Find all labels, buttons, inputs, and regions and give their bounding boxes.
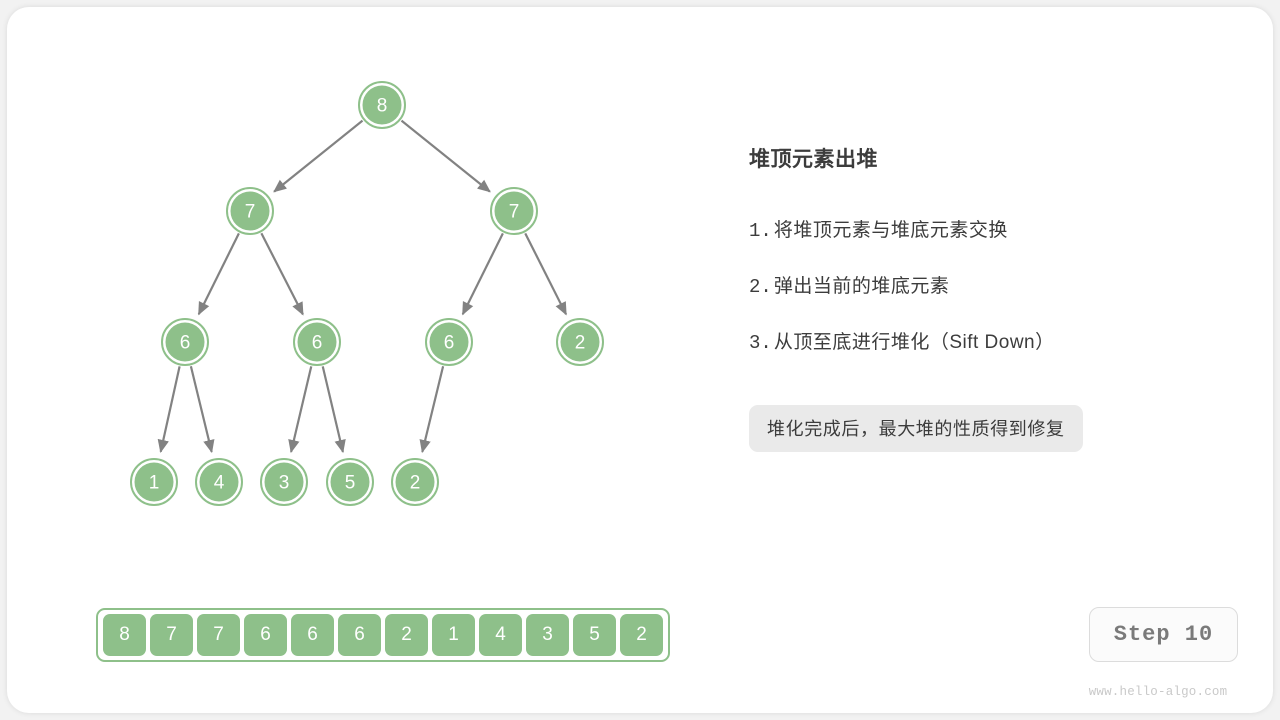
step-item: 2.弹出当前的堆底元素 [749, 271, 1219, 298]
node-value: 7 [509, 202, 520, 223]
node-value: 6 [444, 333, 455, 354]
tree-edge [161, 366, 180, 451]
tree-edge [401, 121, 489, 192]
explanation-panel: 堆顶元素出堆 1.将堆顶元素与堆底元素交换2.弹出当前的堆底元素3.从顶至底进行… [749, 143, 1219, 452]
steps-list: 1.将堆顶元素与堆底元素交换2.弹出当前的堆底元素3.从顶至底进行堆化（Sift… [749, 215, 1219, 354]
step-item: 3.从顶至底进行堆化（Sift Down） [749, 327, 1219, 354]
tree-edge [463, 233, 503, 314]
tree-edge [274, 121, 362, 192]
tree-nodes: 877666214352 [131, 82, 603, 505]
tree-edge [291, 366, 311, 451]
array-cell: 5 [573, 614, 616, 656]
tree-edge [199, 233, 239, 314]
step-label: 弹出当前的堆底元素 [774, 271, 950, 298]
tree-edges [161, 121, 566, 452]
array-cell: 7 [150, 614, 193, 656]
array-cell: 1 [432, 614, 475, 656]
node-value: 2 [575, 333, 586, 354]
tree-node: 6 [294, 319, 340, 365]
node-value: 1 [149, 473, 160, 494]
tree-node: 2 [392, 459, 438, 505]
node-value: 6 [312, 333, 323, 354]
node-value: 6 [180, 333, 191, 354]
step-label: 将堆顶元素与堆底元素交换 [774, 215, 1008, 242]
tree-node: 5 [327, 459, 373, 505]
tree-edge [191, 366, 212, 452]
content-card: 877666214352 堆顶元素出堆 1.将堆顶元素与堆底元素交换2.弹出当前… [7, 7, 1273, 713]
screenshot-canvas: 877666214352 堆顶元素出堆 1.将堆顶元素与堆底元素交换2.弹出当前… [0, 0, 1280, 720]
tree-node: 2 [557, 319, 603, 365]
array-cell: 4 [479, 614, 522, 656]
tree-edge [261, 233, 303, 314]
note-badge: 堆化完成后，最大堆的性质得到修复 [749, 405, 1083, 452]
step-number: 3. [749, 332, 772, 354]
tree-edge [525, 233, 566, 314]
tree-edge [323, 366, 343, 451]
array-cell: 6 [244, 614, 287, 656]
array-cell: 7 [197, 614, 240, 656]
heap-array: 877666214352 [96, 608, 670, 662]
node-value: 8 [377, 96, 388, 117]
array-cell: 8 [103, 614, 146, 656]
heap-tree-diagram: 877666214352 [7, 7, 727, 567]
tree-node: 8 [359, 82, 405, 128]
step-label: 从顶至底进行堆化（Sift Down） [774, 327, 1055, 354]
array-cell: 2 [620, 614, 663, 656]
step-number: 1. [749, 220, 772, 242]
watermark-text: www.hello-algo.com [1080, 685, 1236, 699]
array-cell: 6 [291, 614, 334, 656]
array-cell: 3 [526, 614, 569, 656]
step-badge: Step 10 [1089, 607, 1238, 662]
node-value: 3 [279, 473, 290, 494]
step-item: 1.将堆顶元素与堆底元素交换 [749, 215, 1219, 242]
node-value: 4 [214, 473, 225, 494]
tree-node: 1 [131, 459, 177, 505]
tree-node: 6 [162, 319, 208, 365]
tree-node: 3 [261, 459, 307, 505]
page-title: 堆顶元素出堆 [749, 143, 1219, 173]
array-cell: 2 [385, 614, 428, 656]
tree-node: 7 [491, 188, 537, 234]
tree-edge [422, 366, 443, 452]
step-number: 2. [749, 276, 772, 298]
node-value: 2 [410, 473, 421, 494]
node-value: 5 [345, 473, 356, 494]
array-cell: 6 [338, 614, 381, 656]
tree-node: 6 [426, 319, 472, 365]
tree-node: 7 [227, 188, 273, 234]
tree-node: 4 [196, 459, 242, 505]
node-value: 7 [245, 202, 256, 223]
